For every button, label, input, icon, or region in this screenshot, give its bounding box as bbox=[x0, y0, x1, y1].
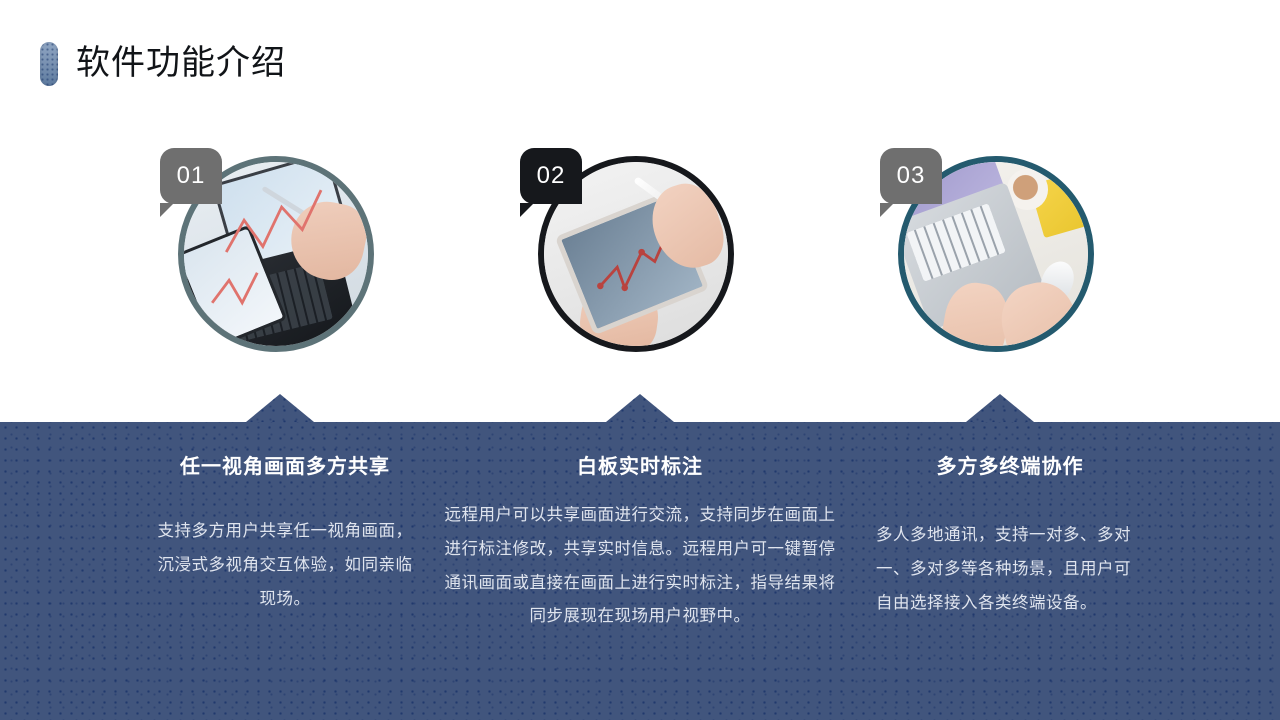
description-column-01: 任一视角画面多方共享 支持多方用户共享任一视角画面，沉浸式多视角交互体验，如同亲… bbox=[140, 422, 430, 616]
description-column-02: 白板实时标注 远程用户可以共享画面进行交流，支持同步在画面上进行标注修改，共享实… bbox=[440, 422, 840, 634]
feature-body-02: 远程用户可以共享画面进行交流，支持同步在画面上进行标注修改，共享实时信息。远程用… bbox=[440, 499, 840, 634]
feature-heading-03: 多方多终端协作 bbox=[860, 450, 1160, 479]
feature-card-03[interactable]: 03 bbox=[880, 148, 1116, 384]
card-number-badge-02: 02 bbox=[520, 148, 582, 204]
feature-card-02[interactable]: 02 bbox=[520, 148, 756, 384]
card-number-badge-03: 03 bbox=[880, 148, 942, 204]
feature-heading-02: 白板实时标注 bbox=[440, 450, 840, 479]
feature-heading-01: 任一视角画面多方共享 bbox=[140, 450, 430, 479]
feature-card-01[interactable]: 01 bbox=[160, 148, 396, 384]
badge-tail-icon bbox=[160, 203, 174, 217]
card-row: 01 02 bbox=[0, 0, 1280, 420]
feature-body-03: 多人多地通讯，支持一对多、多对一、多对多等各种场景，且用户可自由选择接入各类终端… bbox=[860, 519, 1160, 620]
card-number-01: 01 bbox=[177, 162, 206, 190]
feature-body-01: 支持多方用户共享任一视角画面，沉浸式多视角交互体验，如同亲临现场。 bbox=[140, 515, 430, 616]
card-number-03: 03 bbox=[897, 162, 926, 190]
description-panel: 任一视角画面多方共享 支持多方用户共享任一视角画面，沉浸式多视角交互体验，如同亲… bbox=[0, 422, 1280, 720]
card-number-badge-01: 01 bbox=[160, 148, 222, 204]
description-column-03: 多方多终端协作 多人多地通讯，支持一对多、多对一、多对多等各种场景，且用户可自由… bbox=[860, 422, 1160, 620]
badge-tail-icon bbox=[520, 203, 534, 217]
card-number-02: 02 bbox=[537, 162, 566, 190]
badge-tail-icon bbox=[880, 203, 894, 217]
